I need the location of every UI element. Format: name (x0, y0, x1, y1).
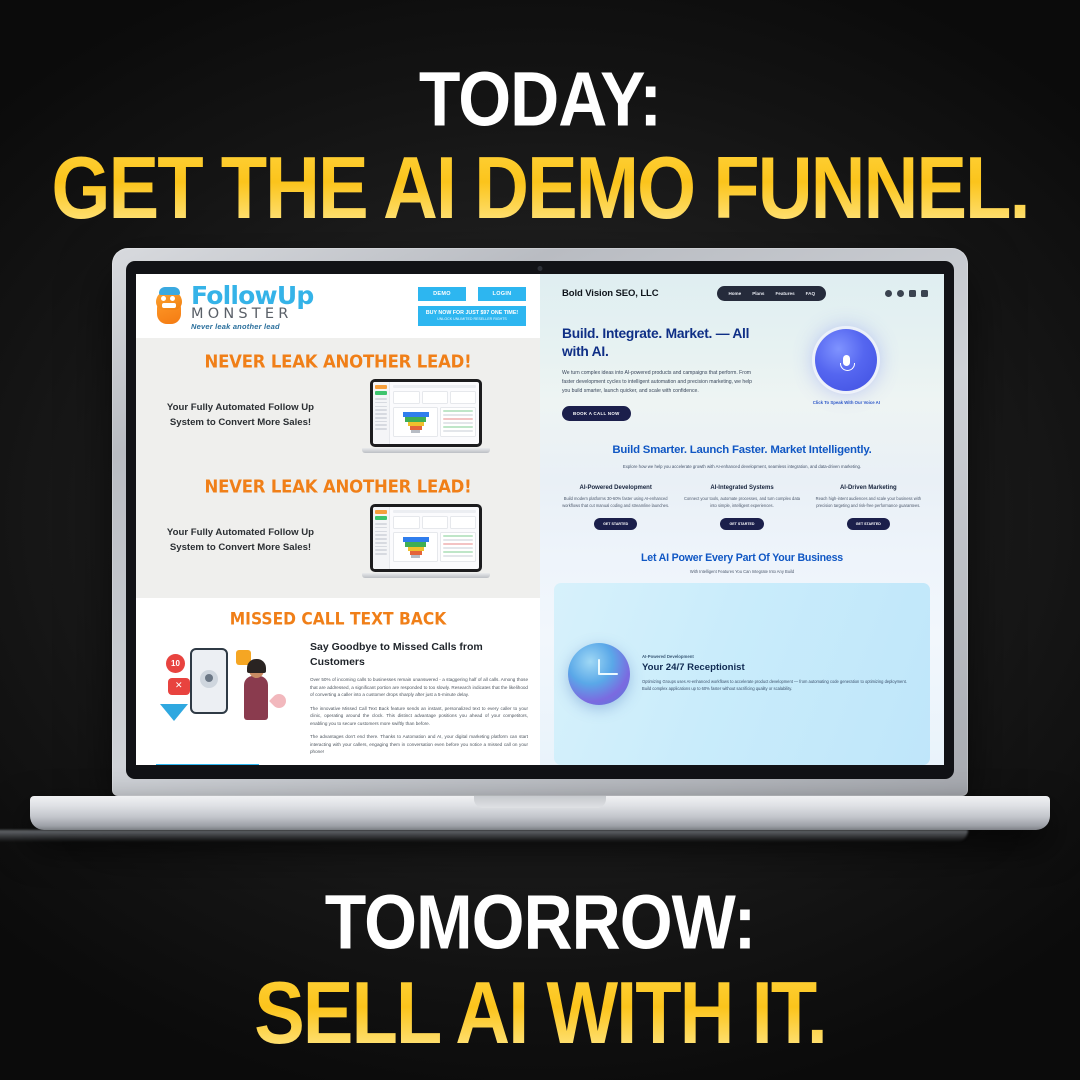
instagram-icon[interactable] (897, 290, 904, 297)
laptop-mockup: FollowUp MONSTER Never leak another lead… (112, 248, 968, 830)
nav-item-home[interactable]: Home (728, 291, 741, 296)
fum-tagline: Never leak another lead (191, 323, 313, 331)
panel-body: Optimizing Groups uses AI-enhanced workf… (642, 679, 916, 693)
laptop-lid: FollowUp MONSTER Never leak another lead… (112, 248, 968, 796)
missed-call-heading: MISSED CALL TEXT BACK (148, 609, 528, 628)
panel-kicker: AI-Powered Development (642, 654, 916, 659)
headline-bottom: TOMORROW: SELL AI WITH IT. (0, 885, 1080, 1046)
funnel-icon (160, 704, 188, 721)
missed-call-bubble-icon (168, 678, 190, 695)
receptionist-panel[interactable]: AI-Powered Development Your 24/7 Recepti… (554, 583, 930, 765)
bv-hero-title: Build. Integrate. Market. — All with AI. (562, 325, 761, 361)
laptop-notch (474, 796, 606, 808)
nav-item-faq[interactable]: FAQ (806, 291, 815, 296)
missed-call-paragraph-3: The advantages don't end there. Thanks t… (310, 733, 528, 755)
demo-button[interactable]: DEMO (418, 287, 466, 301)
bv-features-header: Let AI Power Every Part Of Your Business… (540, 542, 944, 574)
missed-call-paragraph-1: Over 50% of incoming calls to businesses… (310, 676, 528, 698)
youtube-icon[interactable] (921, 290, 928, 297)
book-a-call-button[interactable]: BOOK A CALL NOW (562, 406, 631, 421)
card-body: Reach high-intent audiences and scale yo… (809, 496, 928, 509)
monster-mascot-icon (152, 287, 186, 327)
microphone-icon (843, 355, 850, 366)
card-title: AI-Powered Development (556, 485, 675, 491)
bv-features-subtitle: With Intelligent Features You Can Integr… (554, 569, 930, 574)
missed-call-paragraph-2: The innovative Missed Call Text Back fea… (310, 705, 528, 727)
voice-ai-orb-button[interactable] (815, 329, 877, 391)
clock-orb-icon (568, 643, 630, 705)
facebook-icon[interactable] (885, 290, 892, 297)
crm-dashboard-mockup-1 (331, 379, 522, 453)
linkedin-icon[interactable] (909, 290, 916, 297)
get-started-button-3[interactable]: GET STARTED (847, 518, 890, 530)
bv-social-links (885, 290, 928, 297)
headline-bottom-line1: TOMORROW: (0, 885, 1080, 960)
fum-brand[interactable]: FollowUp MONSTER Never leak another lead (152, 283, 313, 330)
missed-call-badge: 10 (166, 654, 185, 673)
bv-navbar: Bold Vision SEO, LLC Home Plans Features… (540, 274, 944, 311)
laptop-base (30, 796, 1050, 830)
headline-top-line2: GET THE AI DEMO FUNNEL. (0, 145, 1080, 233)
card-ai-driven-marketing: AI-Driven Marketing Reach high-intent au… (809, 485, 928, 529)
section2-copy: Your Fully Automated Follow Up System to… (154, 526, 327, 556)
bv-brand-name[interactable]: Bold Vision SEO, LLC (562, 288, 659, 299)
card-ai-powered-development: AI-Powered Development Build modern plat… (556, 485, 675, 529)
fum-header: FollowUp MONSTER Never leak another lead… (136, 274, 540, 338)
missed-call-subheading: Say Goodbye to Missed Calls from Custome… (310, 640, 528, 670)
card-body: Build modern platforms 30-60% faster usi… (556, 496, 675, 509)
nav-item-features[interactable]: Features (775, 291, 794, 296)
fum-logo-line1: FollowUp (191, 283, 313, 308)
buy-now-title: BUY NOW FOR JUST $97 ONE TIME! (420, 310, 524, 316)
card-title: AI-Driven Marketing (809, 485, 928, 491)
card-ai-integrated-systems: AI-Integrated Systems Connect your tools… (682, 485, 801, 529)
missed-call-section: MISSED CALL TEXT BACK 10 (136, 598, 540, 765)
voice-ai-caption: Click To Speak With Our Voice AI (813, 400, 880, 405)
card-title: AI-Integrated Systems (682, 485, 801, 491)
section1-copy: Your Fully Automated Follow Up System to… (154, 401, 327, 431)
panel-title: Your 24/7 Receptionist (642, 662, 916, 673)
bv-nav-menu: Home Plans Features FAQ (717, 286, 826, 301)
nav-item-plans[interactable]: Plans (752, 291, 764, 296)
headline-top-line1: TODAY: (0, 62, 1080, 137)
heart-icon (269, 691, 289, 711)
webcam-icon (538, 266, 543, 271)
bv-band-subtitle: Explore how we help you accelerate growt… (558, 464, 926, 471)
buy-now-sub: UNLOCK UNLIMITED RESELLER RIGHTS (420, 317, 524, 321)
crm-dashboard-mockup-2 (331, 504, 522, 578)
bv-feature-cards: AI-Powered Development Build modern plat… (540, 475, 944, 541)
login-button[interactable]: LOGIN (478, 287, 526, 301)
bv-hero-paragraph: We turn complex ideas into AI-powered pr… (562, 369, 753, 395)
section2-heading: NEVER LEAK ANOTHER LEAD! (146, 476, 530, 496)
laptop-bezel: FollowUp MONSTER Never leak another lead… (126, 261, 954, 779)
fum-section-2: NEVER LEAK ANOTHER LEAD! Your Fully Auto… (136, 463, 540, 588)
bold-vision-seo-page: Bold Vision SEO, LLC Home Plans Features… (540, 274, 944, 765)
buy-now-button[interactable]: BUY NOW FOR JUST $97 ONE TIME! UNLOCK UN… (418, 306, 526, 326)
headline-top: TODAY: GET THE AI DEMO FUNNEL. (0, 62, 1080, 221)
bv-hero: Build. Integrate. Market. — All with AI.… (540, 311, 944, 429)
get-started-button-1[interactable]: GET STARTED (594, 518, 637, 530)
try-missed-call-button[interactable]: Try Missed Call Text Back (156, 764, 259, 765)
missed-call-illustration: 10 (148, 640, 300, 740)
fum-section-1: NEVER LEAK ANOTHER LEAD! Your Fully Auto… (136, 338, 540, 463)
bv-band-title: Build Smarter. Launch Faster. Market Int… (558, 443, 926, 459)
get-started-button-2[interactable]: GET STARTED (720, 518, 763, 530)
card-body: Connect your tools, automate processes, … (682, 496, 801, 509)
bv-band: Build Smarter. Launch Faster. Market Int… (540, 429, 944, 476)
headline-bottom-line2: SELL AI WITH IT. (0, 970, 1080, 1058)
bv-features-title: Let AI Power Every Part Of Your Business (554, 552, 930, 564)
laptop-screen: FollowUp MONSTER Never leak another lead… (136, 274, 944, 765)
followup-monster-page: FollowUp MONSTER Never leak another lead… (136, 274, 540, 765)
laptop-shadow (0, 830, 968, 842)
section1-heading: NEVER LEAK ANOTHER LEAD! (146, 351, 530, 371)
